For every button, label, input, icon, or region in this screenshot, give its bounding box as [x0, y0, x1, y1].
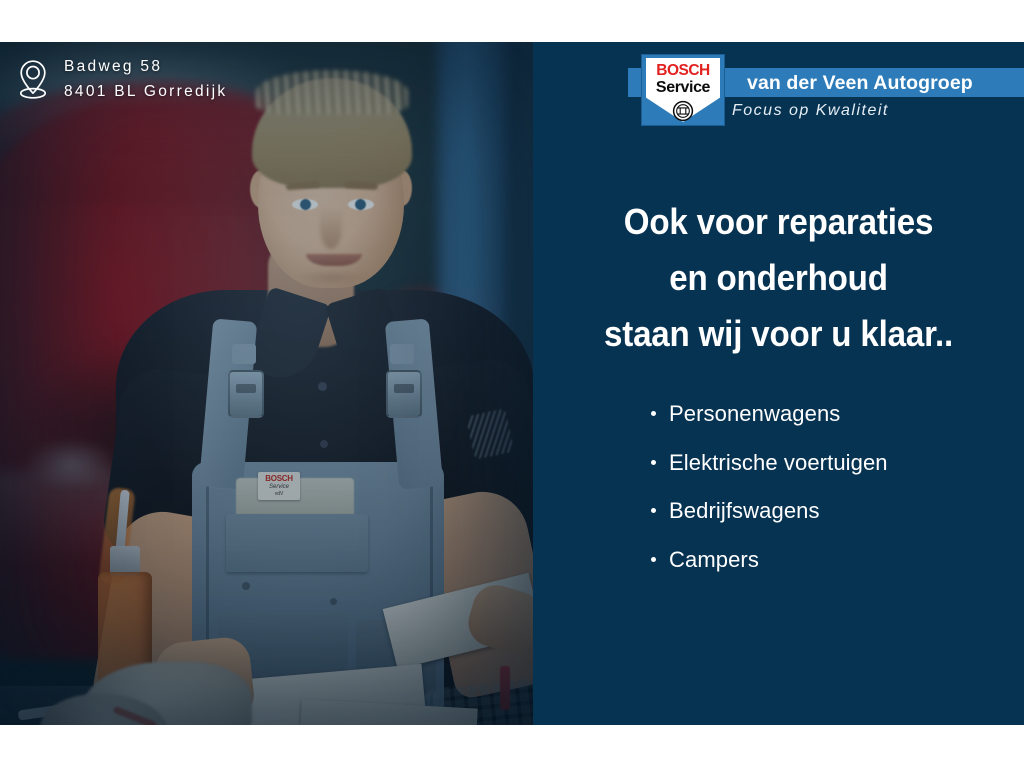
headline-line-1: Ook voor reparaties	[553, 194, 1005, 250]
location-pin-icon	[16, 58, 50, 100]
bullet-dot-icon	[651, 411, 656, 416]
bosch-logo-service-text: Service	[642, 79, 724, 97]
list-item: Personenwagens	[651, 390, 888, 439]
list-item-label: Personenwagens	[669, 401, 840, 426]
list-item-label: Bedrijfswagens	[669, 498, 820, 523]
list-item: Elektrische voertuigen	[651, 439, 888, 488]
company-name: van der Veen Autogroep	[747, 70, 1024, 96]
list-item: Bedrijfswagens	[651, 487, 888, 536]
bullet-dot-icon	[651, 460, 656, 465]
address-line-2: 8401 BL Gorredijk	[64, 79, 227, 104]
list-item-label: Campers	[669, 547, 759, 572]
info-panel: BOSCH Service van der Veen Autogroep Foc…	[533, 42, 1024, 725]
company-tagline: Focus op Kwaliteit	[732, 102, 889, 120]
promo-banner: BOSCH Service vdV	[0, 42, 1024, 725]
bosch-armature-icon	[672, 100, 694, 122]
address-line-1: Badweg 58	[64, 54, 227, 79]
bosch-service-logo: BOSCH Service	[641, 54, 725, 126]
address-text: Badweg 58 8401 BL Gorredijk	[64, 54, 227, 104]
bullet-dot-icon	[651, 508, 656, 513]
bosch-logo-wordmark: BOSCH	[642, 62, 724, 80]
mechanic-photo: BOSCH Service vdV	[0, 42, 533, 725]
address-overlay: Badweg 58 8401 BL Gorredijk	[16, 54, 227, 104]
services-list: Personenwagens Elektrische voertuigen Be…	[651, 390, 888, 584]
list-item: Campers	[651, 536, 888, 585]
headline-line-2: en onderhoud	[553, 250, 1005, 306]
headline: Ook voor reparaties en onderhoud staan w…	[553, 194, 1005, 362]
bullet-dot-icon	[651, 557, 656, 562]
photo-vignette	[0, 42, 533, 725]
list-item-label: Elektrische voertuigen	[669, 450, 888, 475]
photo-scene: BOSCH Service vdV	[0, 42, 533, 725]
headline-line-3: staan wij voor u klaar..	[553, 306, 1005, 362]
